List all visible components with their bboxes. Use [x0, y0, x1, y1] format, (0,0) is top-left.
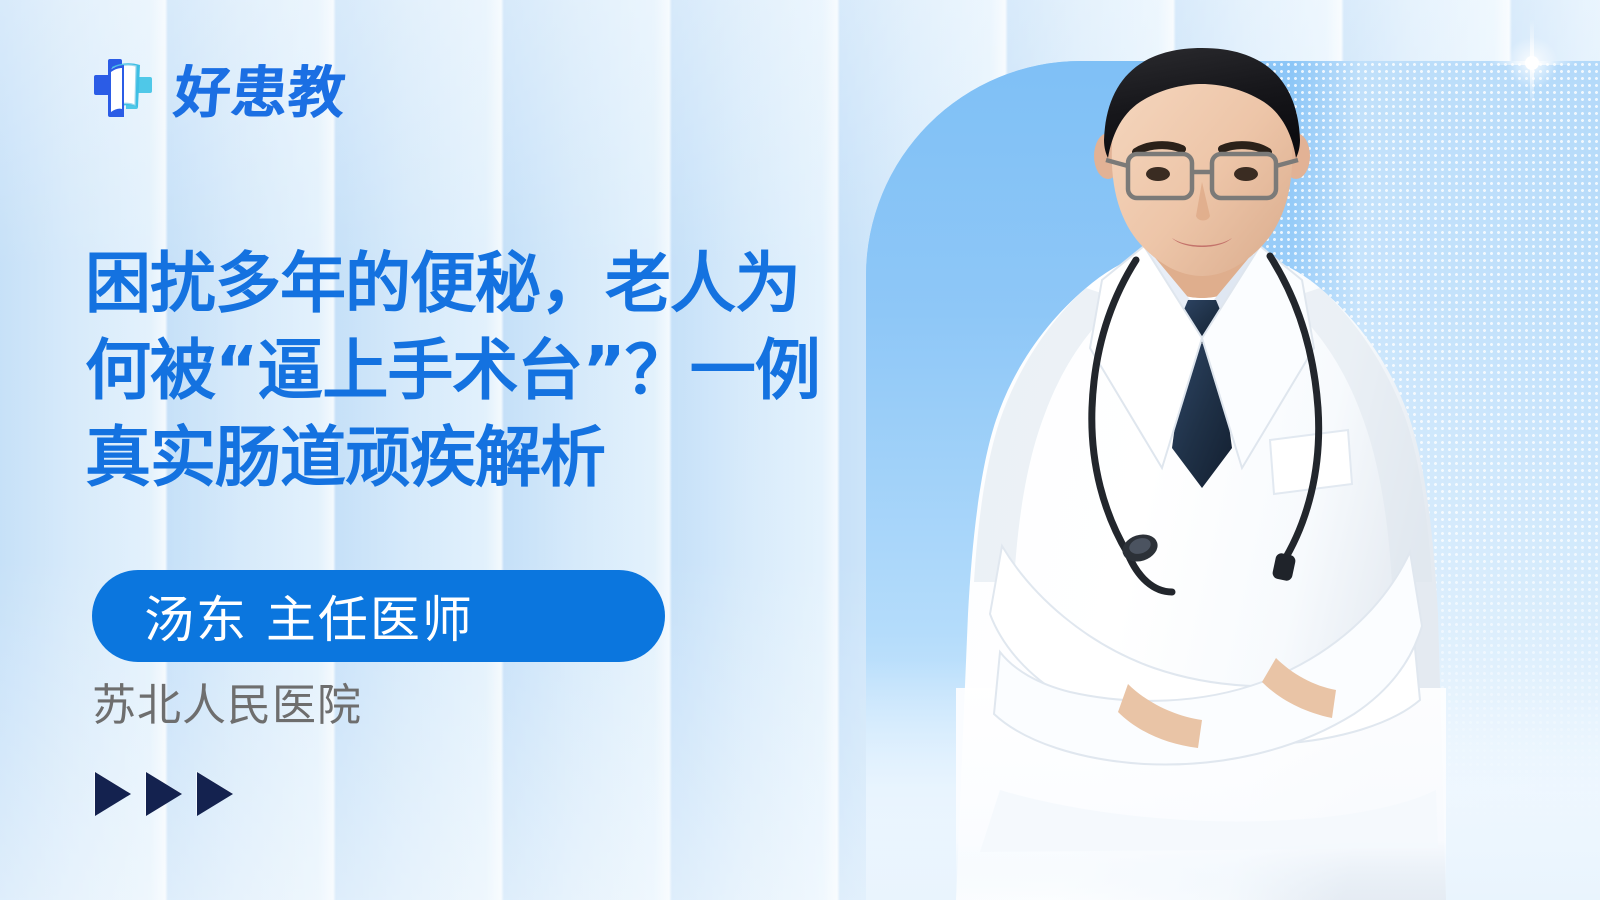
play-triangle-icon-1 — [95, 772, 131, 816]
brand-name: 好患教 — [172, 66, 348, 122]
hero-panel-bottom-fade — [866, 660, 1600, 900]
medical-cross-book-icon — [88, 57, 158, 131]
hospital-name: 苏北人民医院 — [92, 684, 362, 728]
play-triangle-icon-3 — [197, 772, 233, 816]
hero-panel — [866, 61, 1600, 900]
play-triangle-icon-2 — [146, 772, 182, 816]
doctor-name-title-badge[interactable]: 汤东 主任医师 — [92, 570, 665, 662]
page-title: 困扰多年的便秘，老人为何被“逼上手术台”？一例真实肠道顽疾解析 — [85, 240, 855, 501]
brand-logo[interactable]: 好患教 — [88, 57, 345, 131]
cover-canvas: 好患教 困扰多年的便秘，老人为何被“逼上手术台”？一例真实肠道顽疾解析 汤东 主… — [0, 0, 1600, 900]
play-arrows-group — [95, 772, 233, 816]
